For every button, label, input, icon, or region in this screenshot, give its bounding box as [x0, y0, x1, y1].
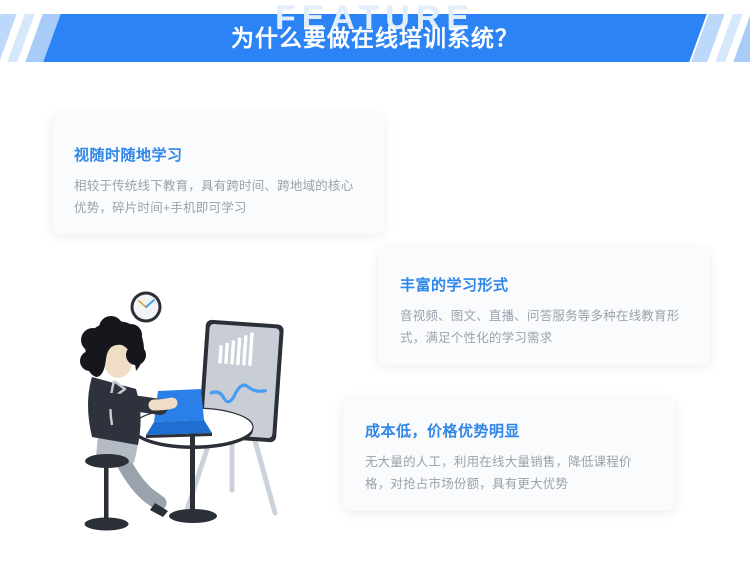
stool	[85, 454, 130, 531]
illustration-woman-at-table	[62, 285, 342, 540]
feature-card-1[interactable]: 视随时随地学习 相较于传统线下教育，具有跨时间、跨地域的核心优势，碎片时间+手机…	[52, 114, 384, 234]
feature-card-1-title: 视随时随地学习	[74, 144, 384, 165]
feature-card-2[interactable]: 丰富的学习形式 音视频、图文、直播、问答服务等多种在线教育形式，满足个性化的学习…	[378, 248, 710, 365]
feature-card-3-title: 成本低，价格优势明显	[365, 420, 675, 441]
page-title: 为什么要做在线培训系统？	[0, 18, 750, 58]
feature-card-3[interactable]: 成本低，价格优势明显 无大量的人工，利用在线大量销售，降低课程价格，对抢占市场份…	[343, 398, 675, 511]
hand	[154, 403, 172, 405]
wall-clock-icon	[131, 292, 162, 323]
feature-card-2-title: 丰富的学习形式	[400, 274, 710, 295]
feature-card-1-body: 相较于传统线下教育，具有跨时间、跨地域的核心优势，碎片时间+手机即可学习	[74, 175, 366, 219]
page-header-banner: FEATURE 为什么要做在线培训系统？	[0, 0, 750, 72]
feature-card-2-body: 音视频、图文、直播、问答服务等多种在线教育形式，满足个性化的学习需求	[400, 305, 692, 349]
feature-card-3-body: 无大量的人工，利用在线大量销售，降低课程价格，对抢占市场份额，具有更大优势	[365, 451, 657, 495]
